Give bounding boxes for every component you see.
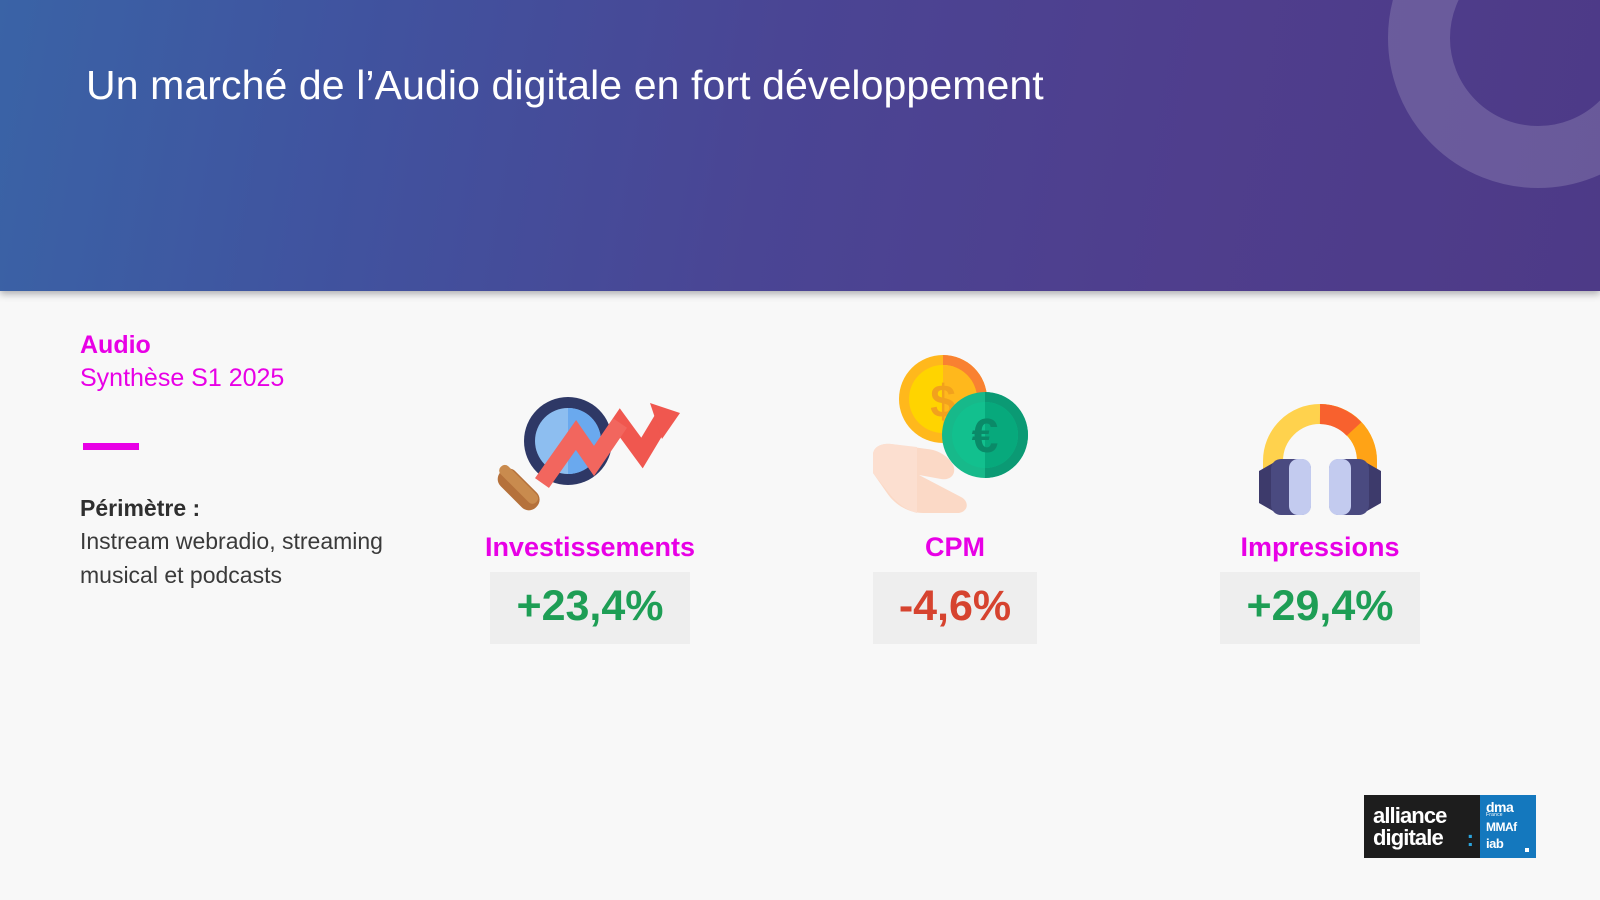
logo-dma-sub: France <box>1486 813 1503 818</box>
headphones-icon <box>1255 351 1385 521</box>
stat-label: Impressions <box>1240 533 1399 563</box>
alliance-digitale-logo: alliance digitale : dma France MMAf iab <box>1364 795 1536 858</box>
perimeter-block: Périmètre : Instream webradio, streaming… <box>80 492 410 593</box>
logo-dot-icon <box>1525 848 1529 852</box>
hand-coins-icon: $ € <box>865 351 1045 521</box>
logo-line2: digitale <box>1373 827 1443 849</box>
accent-rule <box>83 443 139 450</box>
slide-body: Audio Synthèse S1 2025 Périmètre : Instr… <box>0 291 1600 900</box>
slide: Un marché de l’Audio digitale en fort dé… <box>0 0 1600 900</box>
magnifier-growth-chart-icon <box>490 351 690 521</box>
stat-label: Investissements <box>485 533 695 563</box>
stat-card-impressions: Impressions +29,4% <box>1170 351 1470 644</box>
logo-colon: : <box>1467 828 1474 850</box>
stats-row: Investissements +23,4% $ <box>440 351 1470 644</box>
stat-card-investissements: Investissements +23,4% <box>440 351 740 644</box>
svg-text:€: € <box>972 410 999 463</box>
stat-value: -4,6% <box>873 572 1037 644</box>
logo-iab-text: iab <box>1486 837 1503 850</box>
page-title: Un marché de l’Audio digitale en fort dé… <box>86 62 1044 109</box>
logo-mma-text: MMAf <box>1486 821 1517 833</box>
stat-card-cpm: $ € CPM -4,6% <box>805 351 1105 644</box>
perimeter-label: Périmètre : <box>80 492 410 526</box>
logo-partners-panel: dma France MMAf iab <box>1480 795 1536 858</box>
info-column: Audio Synthèse S1 2025 Périmètre : Instr… <box>80 331 410 592</box>
info-title: Audio <box>80 331 410 361</box>
stat-value: +29,4% <box>1220 572 1419 644</box>
perimeter-value: Instream webradio, streaming musical et … <box>80 525 410 592</box>
info-subtitle: Synthèse S1 2025 <box>80 363 410 393</box>
logo-wordmark: alliance digitale : <box>1364 795 1480 858</box>
decorative-ring-icon <box>1388 0 1600 188</box>
stat-label: CPM <box>925 533 985 563</box>
header-band: Un marché de l’Audio digitale en fort dé… <box>0 0 1600 291</box>
stat-value: +23,4% <box>490 572 689 644</box>
logo-line1: alliance <box>1373 805 1447 827</box>
